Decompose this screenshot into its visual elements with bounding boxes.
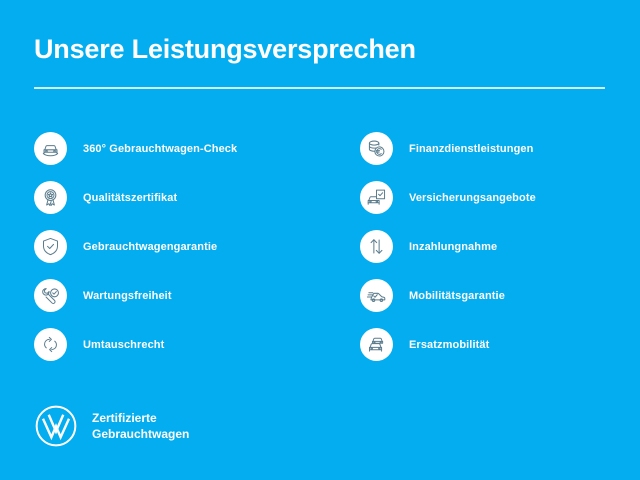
benefit-item: Ersatzmobilität bbox=[360, 320, 640, 369]
benefit-label: Mobilitätsgarantie bbox=[409, 290, 505, 302]
volkswagen-logo bbox=[34, 404, 78, 448]
wrench-check-icon bbox=[34, 279, 67, 312]
benefit-label: Inzahlungnahme bbox=[409, 241, 497, 253]
benefit-item: Versicherungsangebote bbox=[360, 173, 640, 222]
benefit-label: Finanzdienstleistungen bbox=[409, 143, 533, 155]
benefit-label: Ersatzmobilität bbox=[409, 339, 489, 351]
benefit-label: 360° Gebrauchtwagen-Check bbox=[83, 143, 237, 155]
benefit-item: Mobilitätsgarantie bbox=[360, 271, 640, 320]
car-insurance-document-icon bbox=[360, 181, 393, 214]
benefit-label: Gebrauchtwagengarantie bbox=[83, 241, 217, 253]
page-title: Unsere Leistungsversprechen bbox=[34, 33, 416, 65]
benefit-item: Finanzdienstleistungen bbox=[360, 124, 640, 173]
up-down-arrows-icon bbox=[360, 230, 393, 263]
benefit-item: Inzahlungnahme bbox=[360, 222, 640, 271]
benefit-label: Qualitätszertifikat bbox=[83, 192, 177, 204]
coins-euro-icon bbox=[360, 132, 393, 165]
benefit-item: 360° Gebrauchtwagen-Check bbox=[34, 124, 334, 173]
brand-text: Zertifizierte Gebrauchtwagen bbox=[92, 410, 189, 442]
benefits-right-column: Finanzdienstleistungen Versicheru bbox=[360, 124, 640, 369]
benefits-grid: 360° Gebrauchtwagen-Check Qualitätszerti… bbox=[0, 124, 640, 360]
promise-poster: Unsere Leistungsversprechen 360° Ge bbox=[0, 0, 640, 480]
brand-footer: Zertifizierte Gebrauchtwagen bbox=[34, 404, 189, 448]
brand-text-line1: Zertifizierte bbox=[92, 411, 157, 425]
car-360-check-icon bbox=[34, 132, 67, 165]
title-divider bbox=[34, 87, 605, 89]
two-cars-icon bbox=[360, 328, 393, 361]
benefit-label: Umtauschrecht bbox=[83, 339, 164, 351]
benefit-label: Wartungsfreiheit bbox=[83, 290, 172, 302]
benefit-label: Versicherungsangebote bbox=[409, 192, 536, 204]
brand-text-line2: Gebrauchtwagen bbox=[92, 427, 189, 441]
benefit-item: Umtauschrecht bbox=[34, 320, 334, 369]
benefit-item: Qualitätszertifikat bbox=[34, 173, 334, 222]
benefit-item: Wartungsfreiheit bbox=[34, 271, 334, 320]
quality-award-icon bbox=[34, 181, 67, 214]
car-motion-check-icon bbox=[360, 279, 393, 312]
shield-check-icon bbox=[34, 230, 67, 263]
benefit-item: Gebrauchtwagengarantie bbox=[34, 222, 334, 271]
benefits-left-column: 360° Gebrauchtwagen-Check Qualitätszerti… bbox=[34, 124, 334, 369]
exchange-arrows-icon bbox=[34, 328, 67, 361]
